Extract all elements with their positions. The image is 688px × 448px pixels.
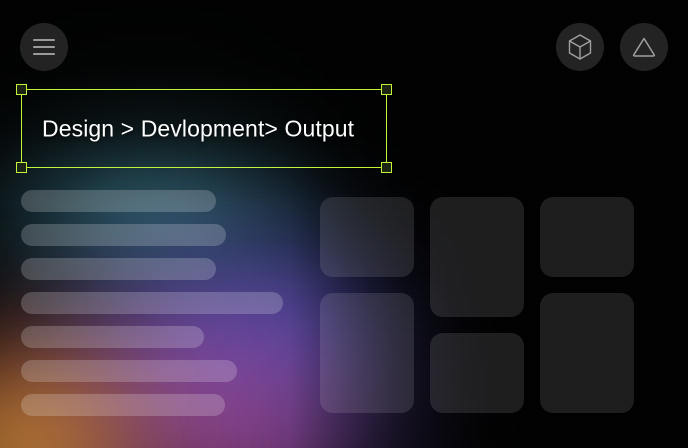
cube-icon [567, 33, 593, 61]
resize-handle-top-right[interactable] [381, 84, 392, 95]
skeleton-list [21, 190, 283, 428]
card-5[interactable] [540, 197, 634, 277]
resize-handle-bottom-left[interactable] [16, 162, 27, 173]
card-3[interactable] [430, 197, 524, 317]
breadcrumb[interactable]: Design > Devlopment> Output [42, 115, 354, 142]
triangle-button[interactable] [620, 23, 668, 71]
selection-box[interactable]: Design > Devlopment> Output [21, 89, 387, 168]
resize-handle-bottom-right[interactable] [381, 162, 392, 173]
triangle-icon [630, 34, 658, 60]
skeleton-bar [21, 224, 226, 246]
card-1[interactable] [320, 197, 414, 277]
cube-button[interactable] [556, 23, 604, 71]
card-2[interactable] [320, 293, 414, 413]
card-6[interactable] [540, 293, 634, 413]
app-root: Design > Devlopment> Output [0, 0, 688, 448]
card-grid [320, 197, 640, 413]
header-bar [0, 0, 688, 96]
skeleton-bar [21, 326, 204, 348]
card-4[interactable] [430, 333, 524, 413]
skeleton-bar [21, 190, 216, 212]
resize-handle-top-left[interactable] [16, 84, 27, 95]
menu-button[interactable] [20, 23, 68, 71]
skeleton-bar [21, 360, 237, 382]
skeleton-bar [21, 258, 216, 280]
skeleton-bar [21, 292, 283, 314]
hamburger-icon [33, 39, 55, 55]
skeleton-bar [21, 394, 225, 416]
